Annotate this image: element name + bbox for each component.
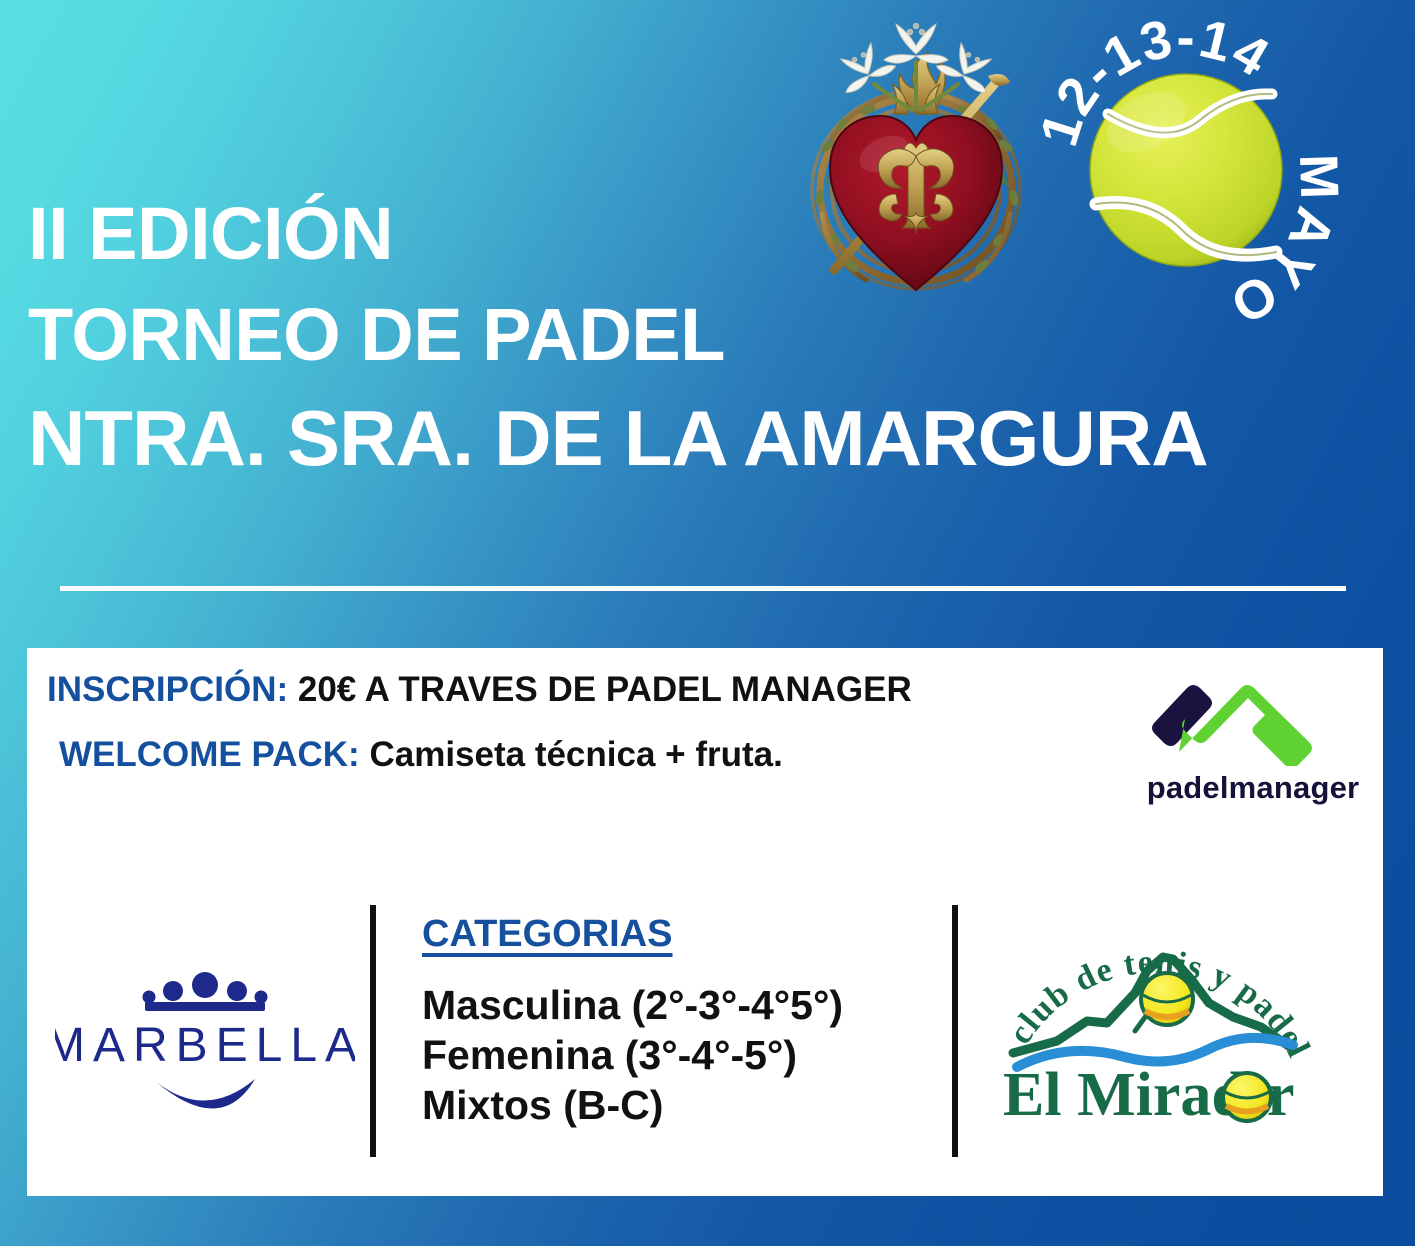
headline-line-3: NTRA. SRA. DE LA AMARGURA bbox=[28, 399, 1415, 479]
inscription-label: INSCRIPCIÓN: bbox=[47, 670, 288, 709]
category-item-mixtos: Mixtos (B-C) bbox=[422, 1080, 942, 1130]
padelmanager-wordmark: padelmanager bbox=[1137, 770, 1369, 806]
welcome-pack-line: WELCOME PACK: Camiseta técnica + fruta. bbox=[47, 737, 1137, 772]
category-item-femenina: Femenina (3°-4°-5°) bbox=[422, 1030, 942, 1080]
info-panel: INSCRIPCIÓN: 20€ A TRAVES DE PADEL MANAG… bbox=[27, 648, 1383, 1196]
category-item-masculina: Masculina (2°-3°-4°5°) bbox=[422, 980, 942, 1030]
page-title: II EDICIÓN TORNEO DE PADEL NTRA. SRA. DE… bbox=[28, 196, 1388, 478]
divider-rule bbox=[60, 586, 1346, 591]
marbella-logo: MARBELLA bbox=[55, 969, 355, 1109]
mirador-wordmark: El Mirad bbox=[1003, 1061, 1246, 1129]
welcome-pack-label: WELCOME PACK: bbox=[59, 735, 360, 774]
categories-block: CATEGORIAS Masculina (2°-3°-4°5°) Femeni… bbox=[422, 913, 942, 1130]
categories-title: CATEGORIAS bbox=[422, 913, 942, 956]
tournament-poster: 12-13-14 MAYO II EDICIÓN TORNEO DE PADEL… bbox=[0, 0, 1415, 1246]
welcome-pack-value: Camiseta técnica + fruta. bbox=[369, 735, 782, 774]
vertical-divider-left bbox=[370, 905, 376, 1157]
padelmanager-mark bbox=[1137, 666, 1369, 766]
mirador-wordmark-tail: r bbox=[1267, 1061, 1295, 1129]
sponsors-and-categories-row: MARBELLA CATEGORIAS Masculina (2°-3°-4°5… bbox=[27, 893, 1383, 1183]
marbella-wordmark: MARBELLA bbox=[55, 1019, 355, 1072]
padelmanager-logo: padelmanager bbox=[1137, 666, 1369, 818]
registration-info: INSCRIPCIÓN: 20€ A TRAVES DE PADEL MANAG… bbox=[47, 672, 1137, 772]
headline-line-2: TORNEO DE PADEL bbox=[28, 297, 1388, 372]
el-mirador-logo: club de tenis y padel El Mirad bbox=[995, 901, 1315, 1131]
inscription-line: INSCRIPCIÓN: 20€ A TRAVES DE PADEL MANAG… bbox=[47, 672, 1137, 707]
inscription-value: 20€ A TRAVES DE PADEL MANAGER bbox=[298, 670, 912, 709]
vertical-divider-right bbox=[952, 905, 958, 1157]
headline-line-1: II EDICIÓN bbox=[28, 196, 1388, 271]
